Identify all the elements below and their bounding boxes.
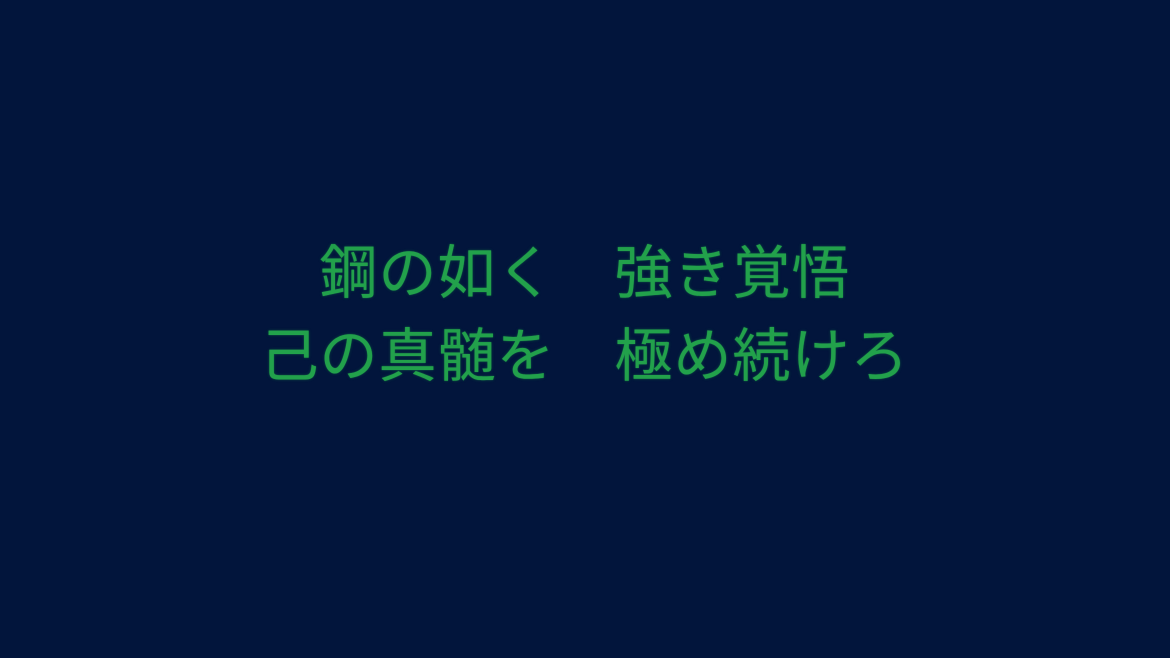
lyric-text-block: 鋼の如く 強き覚悟 己の真髄を 極め続けろ xyxy=(0,0,1170,658)
lyric-line-1: 鋼の如く 強き覚悟 xyxy=(319,232,850,315)
title-card-screen: 鋼の如く 強き覚悟 己の真髄を 極め続けろ xyxy=(0,0,1170,658)
lyric-line-2: 己の真髄を 極め続けろ xyxy=(260,315,909,398)
